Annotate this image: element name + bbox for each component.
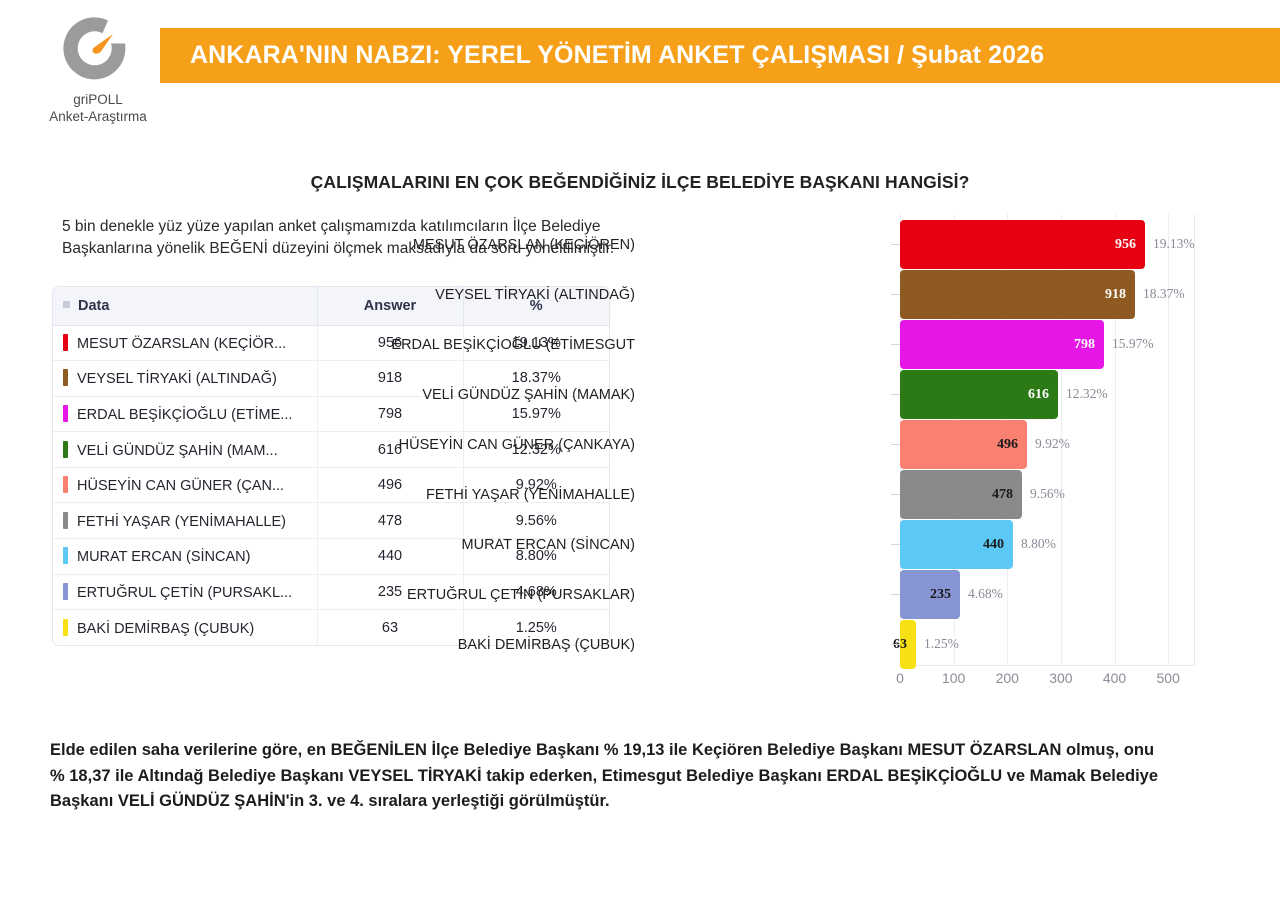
- chart-bar-value-label: 496: [997, 437, 1027, 453]
- chart-bar-percent-label: 8.80%: [1021, 536, 1056, 552]
- table-cell-answer: 478: [317, 503, 463, 539]
- chart-bar-percent-label: 4.68%: [968, 586, 1003, 602]
- chart-gridline: [1168, 214, 1169, 665]
- results-bar-chart: 95619.13%91818.37%79815.97%61612.32%4969…: [640, 214, 1240, 694]
- chart-tick-stub: [891, 394, 900, 395]
- color-swatch-icon: [63, 369, 68, 386]
- chart-bar-value-label: 478: [992, 487, 1022, 503]
- brand-logo-block: griPOLL Anket-Araştırma: [42, 12, 154, 126]
- table-cell-label: FETHİ YAŞAR (YENİMAHALLE): [53, 503, 317, 539]
- chart-bar-percent-label: 18.37%: [1143, 286, 1185, 302]
- chart-bar[interactable]: 235: [900, 570, 960, 619]
- color-swatch-icon: [63, 512, 68, 529]
- chart-x-axis: 0100200300400500: [900, 670, 1220, 694]
- chart-x-tick-label: 300: [1049, 670, 1072, 686]
- chart-bar-percent-label: 15.97%: [1112, 336, 1154, 352]
- chart-bar-percent-label: 9.56%: [1030, 486, 1065, 502]
- chart-x-tick-label: 500: [1156, 670, 1179, 686]
- chart-bar-value-label: 616: [1028, 387, 1058, 403]
- color-swatch-icon: [63, 476, 68, 493]
- chart-x-tick-label: 400: [1103, 670, 1126, 686]
- chart-tick-stub: [891, 544, 900, 545]
- chart-bar-percent-label: 9.92%: [1035, 436, 1070, 452]
- chart-category-label: ERDAL BEŞİKÇİOĞLU (ETİMESGUT: [215, 338, 635, 353]
- chart-bar[interactable]: 918: [900, 270, 1135, 319]
- chart-x-tick-label: 200: [996, 670, 1019, 686]
- chart-tick-stub: [891, 294, 900, 295]
- logo-caption-secondary: Anket-Araştırma: [42, 109, 154, 126]
- survey-question-heading: ÇALIŞMALARINI EN ÇOK BEĞENDİĞİNİZ İLÇE B…: [0, 172, 1280, 193]
- chart-bar-percent-label: 12.32%: [1066, 386, 1108, 402]
- chart-tick-stub: [891, 594, 900, 595]
- chart-plot-area: 95619.13%91818.37%79815.97%61612.32%4969…: [900, 214, 1195, 666]
- chart-bar-percent-label: 1.25%: [924, 636, 959, 652]
- chart-category-label: MESUT ÖZARSLAN (KEÇİÖREN): [215, 238, 635, 253]
- table-cell-label-text: FETHİ YAŞAR (YENİMAHALLE): [77, 514, 286, 530]
- table-cell-label-text: VEYSEL TİRYAKİ (ALTINDAĞ): [77, 371, 277, 387]
- chart-tick-stub: [891, 344, 900, 345]
- logo-caption-primary: griPOLL: [42, 92, 154, 109]
- color-swatch-icon: [63, 547, 68, 564]
- chart-tick-stub: [891, 644, 900, 645]
- color-swatch-icon: [63, 583, 68, 600]
- chart-x-tick-label: 100: [942, 670, 965, 686]
- table-cell-percent: 9.56%: [463, 503, 609, 539]
- chart-bar-value-label: 798: [1074, 337, 1104, 353]
- chart-bar-value-label: 440: [983, 537, 1013, 553]
- chart-bar-value-label: 918: [1105, 287, 1135, 303]
- table-cell-label-text: BAKİ DEMİRBAŞ (ÇUBUK): [77, 621, 254, 637]
- chart-bar-percent-label: 19.13%: [1153, 236, 1195, 252]
- chart-category-label: ERTUĞRUL ÇETİN (PURSAKLAR): [215, 588, 635, 603]
- chart-category-label: BAKİ DEMİRBAŞ (ÇUBUK): [215, 638, 635, 653]
- color-swatch-icon: [63, 441, 68, 458]
- gripoll-gauge-logo-icon: [61, 12, 135, 86]
- color-swatch-icon: [63, 334, 68, 351]
- chart-bar[interactable]: 956: [900, 220, 1145, 269]
- poll-report-page: griPOLL Anket-Araştırma ANKARA'NIN NABZI…: [0, 0, 1280, 907]
- title-banner: ANKARA'NIN NABZI: YEREL YÖNETİM ANKET ÇA…: [160, 28, 1280, 83]
- square-marker-icon: [63, 301, 70, 308]
- table-row[interactable]: FETHİ YAŞAR (YENİMAHALLE)4789.56%: [53, 503, 609, 539]
- chart-category-label: MURAT ERCAN (SİNCAN): [215, 538, 635, 553]
- chart-bar[interactable]: 616: [900, 370, 1058, 419]
- chart-tick-stub: [891, 244, 900, 245]
- summary-paragraph: Elde edilen saha verilerine göre, en BEĞ…: [50, 738, 1160, 815]
- column-header-data-label: Data: [78, 298, 109, 314]
- chart-bar[interactable]: 440: [900, 520, 1013, 569]
- color-swatch-icon: [63, 405, 68, 422]
- chart-category-label: HÜSEYİN CAN GÜNER (ÇANKAYA): [215, 438, 635, 453]
- chart-tick-stub: [891, 444, 900, 445]
- color-swatch-icon: [63, 619, 68, 636]
- chart-bar[interactable]: 63: [900, 620, 916, 669]
- chart-bar-value-label: 235: [930, 587, 960, 603]
- banner-title-text: ANKARA'NIN NABZI: YEREL YÖNETİM ANKET ÇA…: [160, 41, 1044, 70]
- table-cell-label-text: ERDAL BEŞİKÇİOĞLU (ETİME...: [77, 407, 292, 423]
- chart-category-label: VEYSEL TİRYAKİ (ALTINDAĞ): [215, 288, 635, 303]
- chart-bar[interactable]: 478: [900, 470, 1022, 519]
- chart-category-label: FETHİ YAŞAR (YENİMAHALLE): [215, 488, 635, 503]
- chart-bar[interactable]: 798: [900, 320, 1104, 369]
- header: griPOLL Anket-Araştırma ANKARA'NIN NABZI…: [0, 0, 1280, 150]
- chart-tick-stub: [891, 494, 900, 495]
- chart-bar[interactable]: 496: [900, 420, 1027, 469]
- chart-category-label: VELİ GÜNDÜZ ŞAHİN (MAMAK): [215, 388, 635, 403]
- chart-x-tick-label: 0: [896, 670, 904, 686]
- chart-bar-value-label: 956: [1115, 237, 1145, 253]
